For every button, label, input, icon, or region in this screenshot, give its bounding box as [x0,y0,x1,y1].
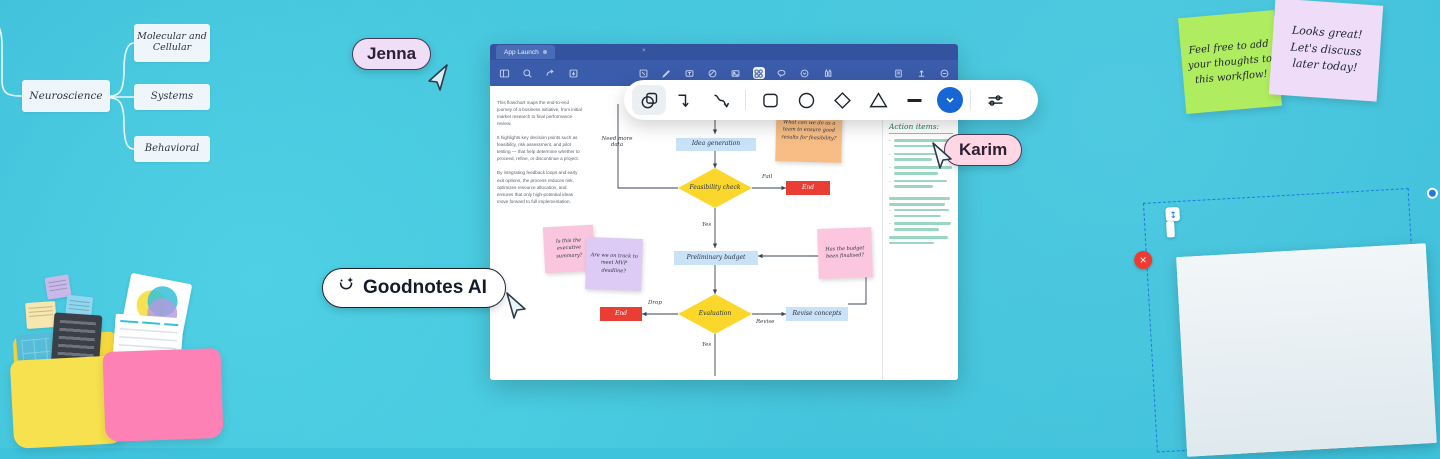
text-icon[interactable] [684,67,696,79]
flowchart: Competitor review Idea generation Feasib… [590,86,882,380]
edge-label-yes-bottom: Yes [702,342,711,348]
flow-node-revise-concepts[interactable]: Revise concepts [786,307,848,321]
window-tab-bar[interactable]: App Launch × [490,44,958,60]
lasso-icon[interactable] [776,67,788,79]
action-items-panel[interactable]: Action items: - - - - - - [882,86,958,380]
action-items-title: Action items: [889,122,953,131]
mindmap-child-node-1[interactable]: Molecular and Cellular [134,24,210,62]
circle-tool-button[interactable] [789,85,823,115]
tab-title: App Launch [504,49,539,56]
sticky-budget-finalised[interactable]: Has the budget been finalised? [817,227,873,279]
mindmap-child-label-2: Systems [151,91,193,103]
mindmap-child-label-1: Molecular and Cellular [136,32,208,54]
flow-node-label: Preliminary budget [687,255,746,262]
pink-folder[interactable] [102,348,223,442]
sliders-settings-button[interactable] [978,85,1012,115]
save-icon[interactable] [567,67,579,79]
flow-node-end-drop[interactable]: End [600,307,642,321]
mindmap-child-label-3: Behavioral [145,143,199,155]
action-items-underline [889,133,953,134]
document-paragraph-2: It highlights key decision points such a… [497,134,584,162]
pen-icon[interactable] [661,67,673,79]
share-icon[interactable] [544,67,556,79]
flow-node-label: Feasibility check [689,185,740,192]
mindmap-root-label: Neuroscience [29,90,102,102]
document-paragraph-3: By integrating feedback loops and early … [497,169,584,205]
sticky-note-lilac[interactable]: Looks great! Let's discuss later today! [1269,0,1383,102]
sticky-text: Has the budget been finalised? [822,245,868,261]
elbow-arrow-tool-button[interactable] [668,85,702,115]
photo-object[interactable]: × [1165,193,1440,456]
flow-node-label: Idea generation [692,141,740,148]
flow-node-label: End [615,311,627,318]
cursor-arrow-ai [502,290,528,320]
search-icon[interactable] [521,67,533,79]
shapes-icon[interactable] [753,67,765,79]
flow-node-label: End [802,185,814,192]
mindmap-child-node-2[interactable]: Systems [134,84,210,110]
toolbar-divider [970,90,971,110]
photo-image[interactable] [1176,243,1437,457]
cursor-arrow-karim [928,140,954,170]
triangle-tool-button[interactable] [861,85,895,115]
document-paragraph-1: This flowchart maps the end-to-end journ… [497,99,584,127]
sidebar-icon[interactable] [498,67,510,79]
chevron-down-icon[interactable] [799,67,811,79]
sticky-note-green-text: Feel free to add your thoughts to this w… [1184,36,1276,88]
pen-color-icon[interactable] [822,67,834,79]
curved-arrow-tool-button[interactable] [704,85,738,115]
sticky-note-lilac-text: Looks great! Let's discuss later today! [1274,22,1377,78]
flow-node-preliminary-budget[interactable]: Preliminary budget [674,251,758,265]
collaborator-name-karim: Karim [959,140,1007,160]
illustration-sticky-3 [25,301,57,329]
window-tab[interactable]: App Launch [496,45,555,59]
expand-tools-button[interactable] [937,87,963,113]
edge-label-drop: Drop [648,300,662,306]
sticky-text: Are we on track to meet MVP deadline? [590,252,639,275]
flow-node-label: Revise concepts [793,311,842,318]
action-item: - [889,180,953,192]
sticky-text: What can we do as a team to ensure good … [780,119,839,142]
collaborator-name-jenna: Jenna [367,44,416,64]
flowchart-canvas[interactable]: Competitor review Idea generation Feasib… [590,86,882,380]
edge-label-yes-top: Yes [702,222,711,228]
cursor-arrow-jenna [426,62,452,92]
action-item: - [889,222,953,234]
collaborator-cursor-jenna[interactable]: Jenna [352,38,431,70]
edge-label-need-more-data: Need more data [596,136,638,148]
tab-close-icon[interactable]: × [642,48,646,54]
photo-sky [1176,243,1437,457]
edge-label-fail: Fail [762,174,772,180]
sparkle-smile-icon [337,275,357,301]
sticky-mvp-deadline[interactable]: Are we on track to meet MVP deadline? [585,237,643,291]
minimize-icon[interactable] [938,67,950,79]
mindmap: Neuroscience Molecular and Cellular Syst… [0,6,230,176]
collaborator-cursor-karim[interactable]: Karim [944,134,1022,166]
app-body: This flowchart maps the end-to-end journ… [490,86,958,380]
diamond-tool-button[interactable] [825,85,859,115]
shapes-tool-button[interactable] [632,85,666,115]
eraser-icon[interactable] [707,67,719,79]
line-tool-button[interactable] [897,85,931,115]
sticky-text: Is this the executive summary? [547,237,590,261]
mindmap-child-node-3[interactable]: Behavioral [134,136,210,162]
rounded-rectangle-tool-button[interactable] [753,85,787,115]
flow-node-end-fail[interactable]: End [786,181,830,195]
goodnotes-ai-label: Goodnotes AI [363,277,487,299]
tab-status-dot [543,50,547,54]
sticky-note-green[interactable]: Feel free to add your thoughts to this w… [1178,10,1282,114]
page-icon[interactable] [892,67,904,79]
action-item: - [889,209,953,221]
shape-toolbar[interactable] [624,80,1038,120]
documents-illustration [0,272,229,452]
upload-icon[interactable] [915,67,927,79]
close-icon: × [1139,254,1147,266]
toolbar-divider [745,90,746,110]
edge-label-revise: Revise [756,319,774,325]
goodnotes-ai-button[interactable]: Goodnotes AI [322,268,506,308]
image-icon[interactable] [730,67,742,79]
flow-node-idea-generation[interactable]: Idea generation [676,138,756,151]
pointer-icon[interactable] [638,67,650,79]
mindmap-root-node[interactable]: Neuroscience [22,80,110,112]
flow-node-label: Evaluation [699,311,732,318]
